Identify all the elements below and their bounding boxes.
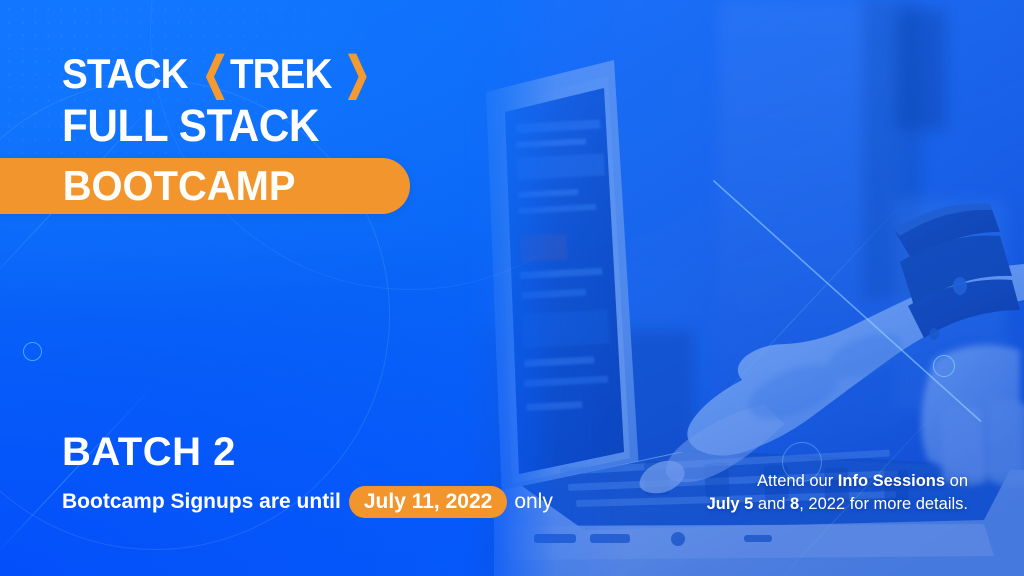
- info-line2-mid: and: [753, 495, 790, 513]
- signup-prefix-text: Bootcamp Signups are until: [62, 490, 341, 514]
- batch-block: BATCH 2 Bootcamp Signups are until July …: [62, 432, 553, 518]
- info-line1-pre: Attend our: [757, 472, 838, 490]
- info-session-block: Attend our Info Sessions on July 5 and 8…: [707, 470, 968, 517]
- bootcamp-pill-label: BOOTCAMP: [0, 165, 295, 207]
- brand-logo-block: STACK ❮ TREK ❯ FULL STACK BOOTCAMP: [0, 52, 470, 214]
- circle-accent-left: [23, 342, 42, 361]
- bootcamp-pill: BOOTCAMP: [0, 158, 410, 214]
- info-line2-post: , 2022 for more details.: [799, 495, 968, 513]
- logo-wordmark: STACK ❮ TREK ❯: [0, 52, 470, 96]
- chevron-left-icon: ❮: [202, 52, 228, 97]
- info-line2-bold-date2: 8: [790, 495, 799, 513]
- logo-word-stack: STACK: [62, 53, 188, 95]
- chevron-right-icon: ❯: [344, 52, 370, 97]
- info-session-line-2: July 5 and 8, 2022 for more details.: [707, 493, 968, 516]
- signup-deadline-line: Bootcamp Signups are until July 11, 2022…: [62, 486, 553, 518]
- headline-full-stack: FULL STACK: [0, 102, 470, 149]
- signup-suffix-text: only: [514, 490, 553, 514]
- logo-word-trek: TREK: [230, 53, 332, 95]
- info-line1-bold: Info Sessions: [838, 472, 945, 490]
- batch-title: BATCH 2: [62, 432, 553, 472]
- banner-stage: STACK ❮ TREK ❯ FULL STACK BOOTCAMP BATCH…: [0, 0, 1024, 576]
- info-line2-bold-date1: July 5: [707, 495, 754, 513]
- info-line1-post: on: [945, 472, 968, 490]
- deadline-date-pill: July 11, 2022: [349, 486, 507, 518]
- info-session-line-1: Attend our Info Sessions on: [707, 470, 968, 493]
